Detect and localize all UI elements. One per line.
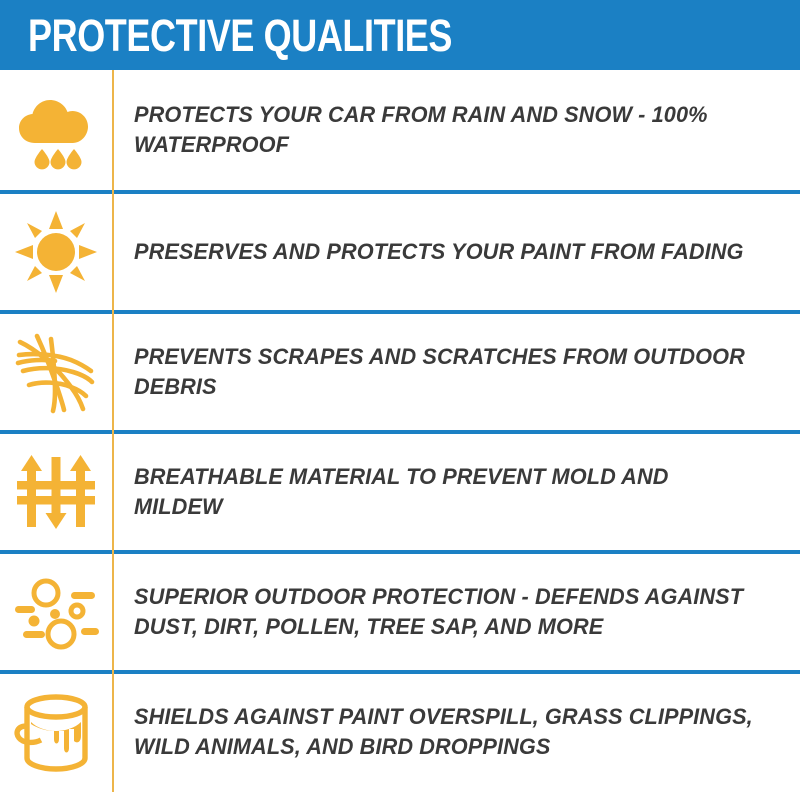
protective-qualities-infographic: PROTECTIVE QUALITIES PROTECTS YOUR CAR F… <box>0 0 800 800</box>
list-item-label: PREVENTS SCRAPES AND SCRATCHES FROM OUTD… <box>134 342 763 402</box>
feature-text-cell: PRESERVES AND PROTECTS YOUR PAINT FROM F… <box>112 237 800 267</box>
list-item: SUPERIOR OUTDOOR PROTECTION - DEFENDS AG… <box>0 550 800 670</box>
list-item-label: PRESERVES AND PROTECTS YOUR PAINT FROM F… <box>134 237 763 267</box>
list-item-label: SHIELDS AGAINST PAINT OVERSPILL, GRASS C… <box>134 702 763 762</box>
sun-icon <box>0 194 112 310</box>
dust-particles-icon <box>0 554 112 670</box>
list-item: PROTECTS YOUR CAR FROM RAIN AND SNOW - 1… <box>0 70 800 190</box>
feature-text-cell: PREVENTS SCRAPES AND SCRATCHES FROM OUTD… <box>112 342 800 402</box>
list-item-label: BREATHABLE MATERIAL TO PREVENT MOLD AND … <box>134 462 763 522</box>
feature-text-cell: BREATHABLE MATERIAL TO PREVENT MOLD AND … <box>112 462 800 522</box>
list-item: PREVENTS SCRAPES AND SCRATCHES FROM OUTD… <box>0 310 800 430</box>
feature-text-cell: SHIELDS AGAINST PAINT OVERSPILL, GRASS C… <box>112 702 800 762</box>
feature-list: PROTECTS YOUR CAR FROM RAIN AND SNOW - 1… <box>0 70 800 800</box>
feature-text-cell: SUPERIOR OUTDOOR PROTECTION - DEFENDS AG… <box>112 582 800 642</box>
paint-can-icon <box>0 674 112 790</box>
list-item: SHIELDS AGAINST PAINT OVERSPILL, GRASS C… <box>0 670 800 790</box>
scratches-icon <box>0 314 112 430</box>
list-item-label: PROTECTS YOUR CAR FROM RAIN AND SNOW - 1… <box>134 100 763 160</box>
vertical-divider <box>112 70 114 792</box>
list-item: BREATHABLE MATERIAL TO PREVENT MOLD AND … <box>0 430 800 550</box>
header-bar: PROTECTIVE QUALITIES <box>0 0 800 70</box>
list-item-label: SUPERIOR OUTDOOR PROTECTION - DEFENDS AG… <box>134 582 763 642</box>
breathable-airflow-icon <box>0 434 112 550</box>
feature-text-cell: PROTECTS YOUR CAR FROM RAIN AND SNOW - 1… <box>112 100 800 160</box>
rain-cloud-icon <box>0 70 112 190</box>
page-title: PROTECTIVE QUALITIES <box>28 13 452 58</box>
list-item: PRESERVES AND PROTECTS YOUR PAINT FROM F… <box>0 190 800 310</box>
